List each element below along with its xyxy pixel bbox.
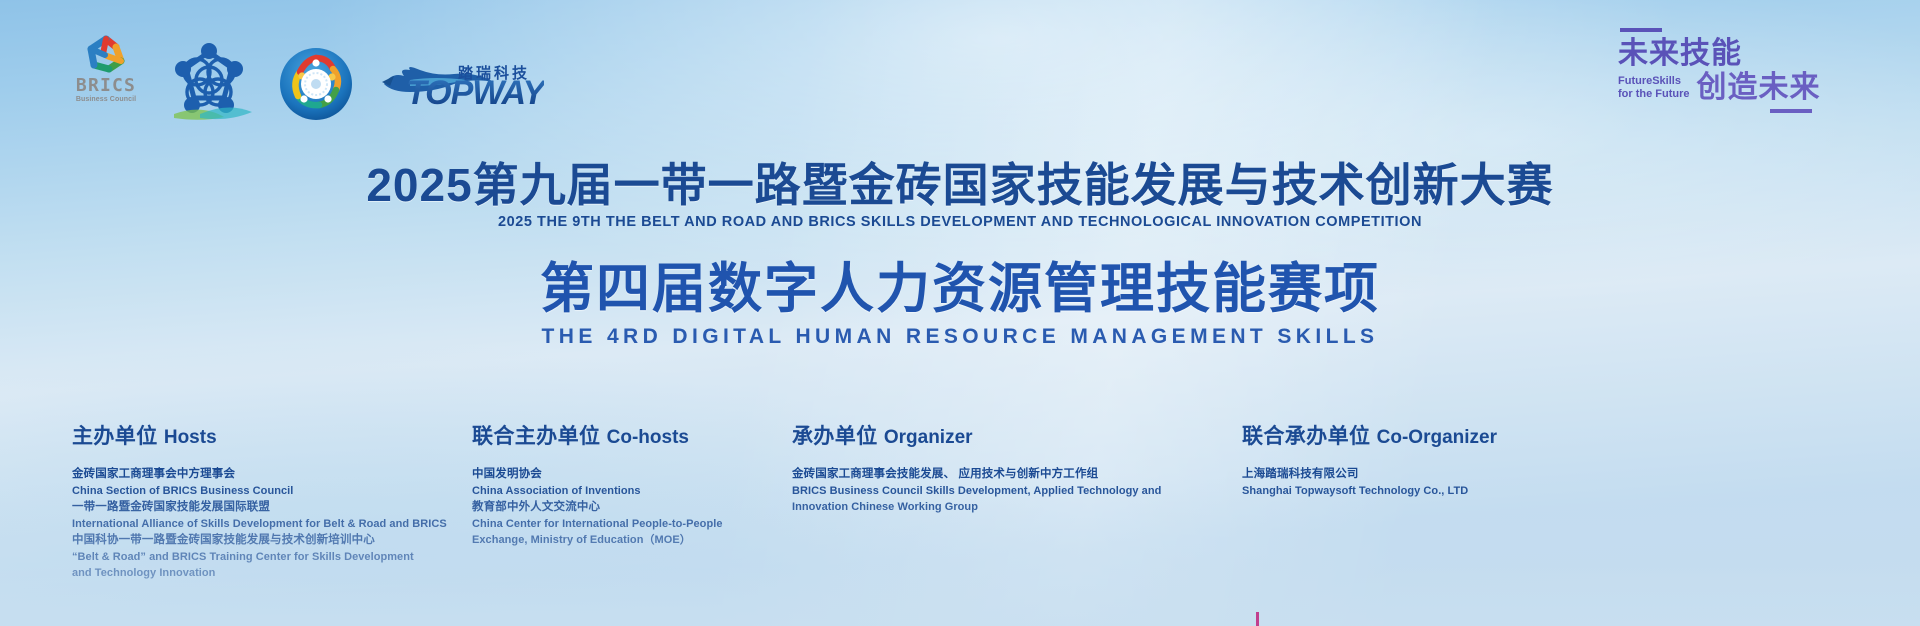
sub-title-en: THE 4RD DIGITAL HUMAN RESOURCE MANAGEMEN…	[0, 324, 1920, 350]
futureskills-tagline-line2: for the Future	[1618, 88, 1690, 101]
title-block: 2025第九届一带一路暨金砖国家技能发展与技术创新大赛 2025 THE 9TH…	[0, 160, 1920, 350]
pink-marker	[1256, 612, 1259, 626]
futureskills-logo: 未来技能 FutureSkills for the Future 创造未来	[1618, 28, 1868, 113]
list-item: 金砖国家工商理事会技能发展、 应用技术与创新中方工作组	[792, 466, 1242, 483]
organizer-list: 上海踏瑞科技有限公司 Shanghai Topwaysoft Technolog…	[1242, 466, 1642, 499]
organizer-list: 金砖国家工商理事会中方理事会 China Section of BRICS Bu…	[72, 466, 472, 582]
brics-subtitle: Business Council	[76, 95, 136, 104]
futureskills-line-cn-2: 创造未来	[1697, 71, 1821, 105]
heading-cn: 承办单位	[792, 425, 878, 448]
list-item: Exchange, Ministry of Education（MOE）	[472, 532, 792, 549]
organizer-column-coorganizer: 联合承办单位 Co-Organizer 上海踏瑞科技有限公司 Shanghai …	[1242, 424, 1642, 582]
organizer-column-hosts: 主办单位 Hosts 金砖国家工商理事会中方理事会 China Section …	[72, 424, 472, 582]
main-title-en: 2025 THE 9TH THE BELT AND ROAD AND BRICS…	[0, 212, 1920, 232]
list-item: “Belt & Road” and BRICS Training Center …	[72, 549, 472, 566]
organizer-column-cohosts: 联合主办单位 Co-hosts 中国发明协会 China Association…	[472, 424, 792, 582]
heading-cn: 联合承办单位	[1242, 425, 1370, 448]
list-item: China Center for International People-to…	[472, 516, 792, 533]
list-item: Shanghai Topwaysoft Technology Co., LTD	[1242, 483, 1642, 500]
sub-title-cn: 第四届数字人力资源管理技能赛项	[0, 258, 1920, 320]
organizer-column-heading: 联合承办单位 Co-Organizer	[1242, 424, 1642, 451]
list-item: 中国科协一带一路暨金砖国家技能发展与技术创新培训中心	[72, 532, 472, 549]
list-item: 金砖国家工商理事会中方理事会	[72, 466, 472, 483]
list-item: 一带一路暨金砖国家技能发展国际联盟	[72, 499, 472, 516]
list-item: 中国发明协会	[472, 466, 792, 483]
alliance-flower-icon	[166, 38, 252, 122]
list-item: China Association of Inventions	[472, 483, 792, 500]
organizer-column-heading: 承办单位 Organizer	[792, 424, 1242, 451]
main-title-cn: 2025第九届一带一路暨金砖国家技能发展与技术创新大赛	[0, 160, 1920, 210]
organizer-list: 金砖国家工商理事会技能发展、 应用技术与创新中方工作组 BRICS Busine…	[792, 466, 1242, 516]
partner-logo-row: BRICS Business Council	[72, 30, 530, 122]
futureskills-tagline-line1: FutureSkills	[1618, 75, 1690, 88]
brics-business-council-logo: BRICS Business Council	[72, 34, 140, 122]
brics-wordmark: BRICS	[76, 77, 136, 95]
organizer-column-organizer: 承办单位 Organizer 金砖国家工商理事会技能发展、 应用技术与创新中方工…	[792, 424, 1242, 582]
organizer-list: 中国发明协会 China Association of Inventions 教…	[472, 466, 792, 549]
organizer-column-heading: 联合主办单位 Co-hosts	[472, 424, 792, 451]
list-item: China Section of BRICS Business Council	[72, 483, 472, 500]
list-item: International Alliance of Skills Develop…	[72, 516, 472, 533]
list-item: and Technology Innovation	[72, 565, 472, 582]
topway-wordmark: TOPWAY	[406, 76, 544, 110]
heading-en: Organizer	[884, 427, 973, 448]
list-item: 教育部中外人文交流中心	[472, 499, 792, 516]
futureskills-line-cn-1: 未来技能	[1618, 37, 1868, 71]
organizer-columns: 主办单位 Hosts 金砖国家工商理事会中方理事会 China Section …	[0, 424, 1920, 582]
futureskills-bottom-rule	[1770, 109, 1812, 113]
list-item: Innovation Chinese Working Group	[792, 499, 1242, 516]
list-item: BRICS Business Council Skills Developmen…	[792, 483, 1242, 500]
list-item: 上海踏瑞科技有限公司	[1242, 466, 1642, 483]
skills-alliance-logo	[166, 38, 252, 122]
heading-en: Hosts	[164, 427, 217, 448]
heading-cn: 主办单位	[72, 425, 158, 448]
competition-banner: BRICS Business Council	[0, 0, 1920, 626]
heading-en: Co-Organizer	[1377, 427, 1497, 448]
brics-star-icon	[83, 34, 129, 76]
topway-logo: 踏瑞科技 TOPWAY	[380, 60, 530, 122]
heading-en: Co-hosts	[607, 427, 689, 448]
round-emblem-icon	[278, 44, 354, 122]
heading-cn: 联合主办单位	[472, 425, 600, 448]
organizer-column-heading: 主办单位 Hosts	[72, 424, 472, 451]
futureskills-tagline: FutureSkills for the Future	[1618, 75, 1690, 105]
round-star-emblem-logo	[278, 44, 354, 122]
futureskills-top-rule	[1620, 28, 1662, 32]
